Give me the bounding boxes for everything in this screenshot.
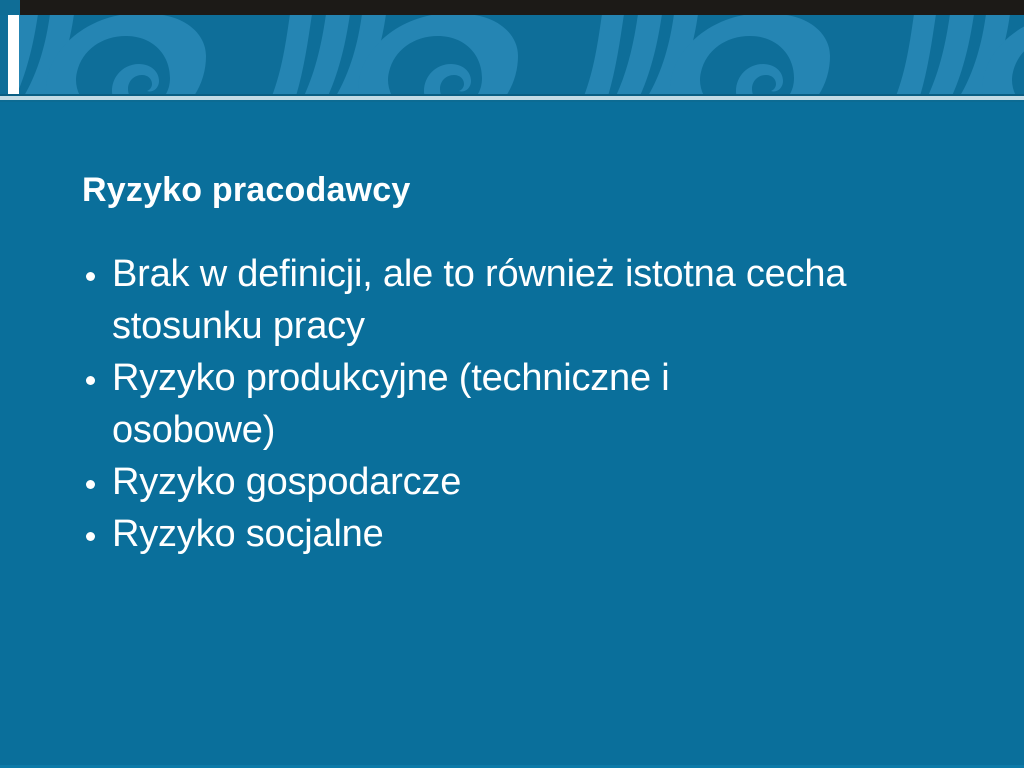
left-blue-accent-strip (0, 15, 8, 96)
list-item: Ryzyko produkcyjne (techniczne i osobowe… (82, 352, 842, 456)
bullet-dot-icon (86, 376, 95, 385)
bullet-list: Brak w definicji, ale to również istotna… (82, 248, 982, 560)
top-left-accent-square (0, 0, 20, 15)
slide-content: Ryzyko pracodawcy Brak w definicji, ale … (82, 168, 982, 560)
bullet-text: Ryzyko produkcyjne (techniczne i osobowe… (112, 352, 842, 456)
bullet-text: Ryzyko socjalne (112, 508, 972, 560)
slide-title: Ryzyko pracodawcy (82, 168, 982, 212)
bullet-dot-icon (86, 532, 95, 541)
presentation-slide: Ryzyko pracodawcy Brak w definicji, ale … (0, 0, 1024, 768)
list-item: Brak w definicji, ale to również istotna… (82, 248, 967, 352)
list-item: Ryzyko gospodarcze (82, 456, 972, 508)
bullet-text: Ryzyko gospodarcze (112, 456, 972, 508)
header-separator-shadow (0, 100, 1024, 102)
slide-header-band (0, 14, 1024, 96)
koru-swirl-pattern-icon (0, 14, 1024, 96)
list-item: Ryzyko socjalne (82, 508, 972, 560)
left-white-accent-strip (8, 15, 19, 96)
bullet-dot-icon (86, 480, 95, 489)
bullet-text: Brak w definicji, ale to również istotna… (112, 248, 967, 352)
top-dark-bar (20, 0, 1024, 15)
bullet-dot-icon (86, 272, 95, 281)
